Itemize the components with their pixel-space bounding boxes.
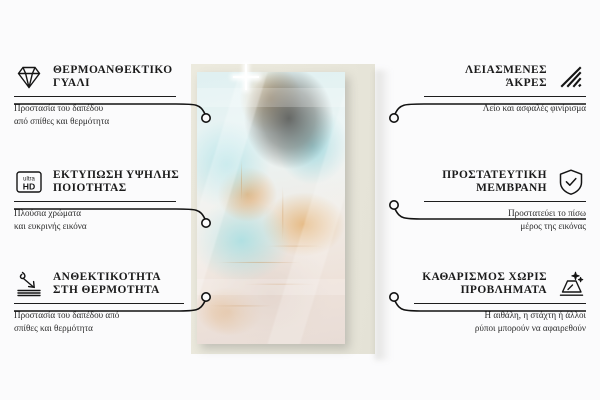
divider <box>14 303 184 304</box>
callout-dot-left-2 <box>202 219 210 227</box>
feature-description: Λείο και ασφαλές φινίρισμα <box>483 102 586 115</box>
feature-protective-membrane[interactable]: ΠΡΟΣΤΑΤΕΥΤΙΚΗ ΜΕΜΒΡΑΝΗ Προστατεύει το πί… <box>424 167 586 233</box>
heat-resistance-icon <box>14 269 44 299</box>
feature-polished-edges[interactable]: ΛΕΙΑΣΜΕΝΕΣ ΆΚΡΕΣ Λείο και ασφαλές φινίρι… <box>424 62 586 115</box>
feature-title: ΕΚΤΥΠΩΣΗ ΥΨΗΛΗΣ ΠΟΙΟΤΗΤΑΣ <box>53 169 179 195</box>
divider <box>414 303 586 304</box>
divider <box>14 201 176 202</box>
feature-header: ΑΝΘΕΚΤΙΚΟΤΗΤΑ ΣΤΗ ΘΕΡΜΟΤΗΤΑ <box>14 269 184 299</box>
callout-dot-right-3 <box>390 293 398 301</box>
feature-title: ΘΕΡΜΟΑΝΘΕΚΤΙΚΟ ΓΥΑΛΙ <box>53 64 173 90</box>
shield-check-icon <box>556 167 586 197</box>
svg-text:HD: HD <box>23 181 35 191</box>
divider <box>424 96 586 97</box>
feature-title: ΠΡΟΣΤΑΤΕΥΤΙΚΗ ΜΕΜΒΡΑΝΗ <box>442 169 547 195</box>
feature-heat-resistant-glass[interactable]: ΘΕΡΜΟΑΝΘΕΚΤΙΚΟ ΓΥΑΛΙ Προστασία του δαπέδ… <box>14 62 176 128</box>
easy-clean-sparkle-icon <box>556 269 586 299</box>
feature-title: ΛΕΙΑΣΜΕΝΕΣ ΆΚΡΕΣ <box>465 64 547 90</box>
feature-description: Η αιθάλη, η στάχτη ή άλλοι ρύποι μπορούν… <box>475 309 586 335</box>
polished-edges-icon <box>556 62 586 92</box>
feature-high-quality-print[interactable]: ultra HD ΕΚΤΥΠΩΣΗ ΥΨΗΛΗΣ ΠΟΙΟΤΗΤΑΣ Πλούσ… <box>14 167 176 233</box>
diamond-icon <box>14 62 44 92</box>
feature-title: ΑΝΘΕΚΤΙΚΟΤΗΤΑ ΣΤΗ ΘΕΡΜΟΤΗΤΑ <box>53 271 161 297</box>
feature-header: ΘΕΡΜΟΑΝΘΕΚΤΙΚΟ ΓΥΑΛΙ <box>14 62 176 92</box>
feature-header: ΛΕΙΑΣΜΕΝΕΣ ΆΚΡΕΣ <box>465 62 586 92</box>
feature-description: Προστασία του δαπέδου από σπίθες και θερ… <box>14 102 176 128</box>
callout-dot-right-2 <box>390 201 398 209</box>
feature-header: ultra HD ΕΚΤΥΠΩΣΗ ΥΨΗΛΗΣ ΠΟΙΟΤΗΤΑΣ <box>14 167 176 197</box>
feature-header: ΚΑΘΑΡΙΣΜΟΣ ΧΩΡΙΣ ΠΡΟΒΛΗΜΑΤΑ <box>422 269 586 299</box>
feature-title: ΚΑΘΑΡΙΣΜΟΣ ΧΩΡΙΣ ΠΡΟΒΛΗΜΑΤΑ <box>422 271 547 297</box>
feature-description: Προστατεύει το πίσω μέρος της εικόνας <box>508 207 586 233</box>
feature-header: ΠΡΟΣΤΑΤΕΥΤΙΚΗ ΜΕΜΒΡΑΝΗ <box>442 167 586 197</box>
ultra-hd-badge-icon: ultra HD <box>14 167 44 197</box>
feature-heat-durability[interactable]: ΑΝΘΕΚΤΙΚΟΤΗΤΑ ΣΤΗ ΘΕΡΜΟΤΗΤΑ Προστασία το… <box>14 269 184 335</box>
feature-easy-cleaning[interactable]: ΚΑΘΑΡΙΣΜΟΣ ΧΩΡΙΣ ΠΡΟΒΛΗΜΑΤΑ Η αιθάλη, η … <box>414 269 586 335</box>
divider <box>424 201 586 202</box>
divider <box>14 96 176 97</box>
infographic-stage: ΘΕΡΜΟΑΝΘΕΚΤΙΚΟ ΓΥΑΛΙ Προστασία του δαπέδ… <box>0 0 600 400</box>
callout-dot-left-3 <box>202 293 210 301</box>
feature-description: Πλούσια χρώματα και ευκρινής εικόνα <box>14 207 176 233</box>
callout-dot-left-1 <box>202 114 210 122</box>
callout-dot-right-1 <box>390 114 398 122</box>
feature-description: Προστασία του δαπέδου από σπίθες και θερ… <box>14 309 184 335</box>
